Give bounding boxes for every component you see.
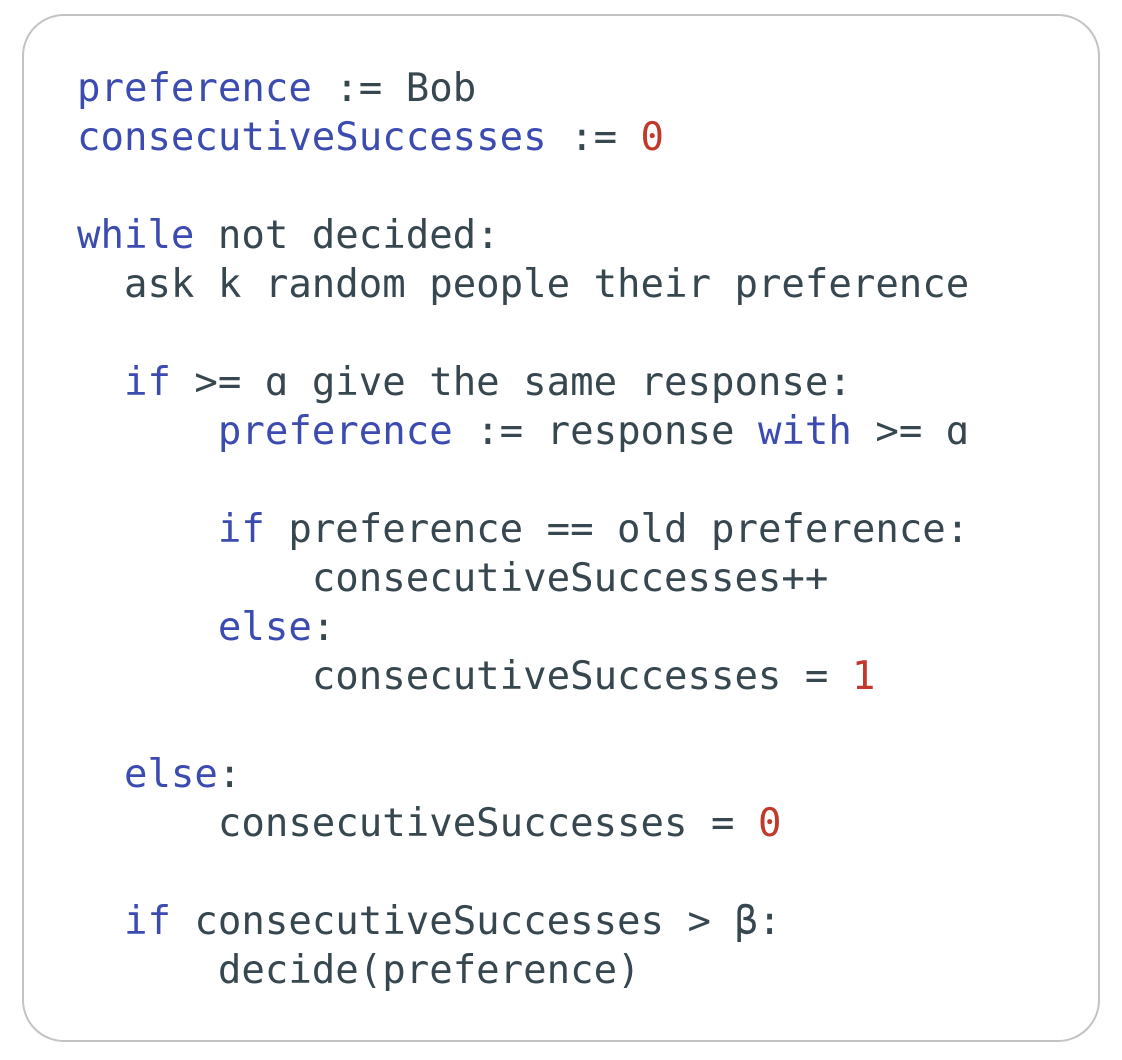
pseudocode-card: preference := BobconsecutiveSuccesses :=… xyxy=(22,14,1100,1042)
code-line: preference := response with >= ɑ xyxy=(77,407,969,456)
code-number: 1 xyxy=(852,654,875,699)
code-line: if consecutiveSuccesses > β: xyxy=(77,897,969,946)
code-keyword: else xyxy=(124,752,218,797)
code-line: consecutiveSuccesses = 1 xyxy=(77,652,969,701)
code-text: Bob xyxy=(406,66,476,111)
code-text: : xyxy=(218,752,241,797)
code-indent xyxy=(77,262,124,307)
code-indent xyxy=(77,948,218,993)
code-text: decide(preference) xyxy=(218,948,641,993)
code-keyword: else xyxy=(218,605,312,650)
code-line xyxy=(77,456,969,505)
code-line xyxy=(77,309,969,358)
code-indent xyxy=(77,801,218,846)
code-line xyxy=(77,162,969,211)
code-number: 0 xyxy=(641,115,664,160)
code-indent xyxy=(77,556,312,601)
code-keyword: while xyxy=(77,213,194,258)
code-variable: preference xyxy=(77,66,312,111)
code-text: := response xyxy=(453,409,758,454)
code-indent xyxy=(77,899,124,944)
code-line: decide(preference) xyxy=(77,946,969,995)
code-line: else: xyxy=(77,603,969,652)
pseudocode-block: preference := BobconsecutiveSuccesses :=… xyxy=(77,64,969,995)
code-keyword: if xyxy=(218,507,265,552)
code-keyword: if xyxy=(124,899,171,944)
code-line: if >= ɑ give the same response: xyxy=(77,358,969,407)
code-text: >= ɑ xyxy=(852,409,969,454)
code-variable: preference xyxy=(218,409,453,454)
code-line: consecutiveSuccesses++ xyxy=(77,554,969,603)
code-text: : xyxy=(312,605,335,650)
code-text: consecutiveSuccesses++ xyxy=(312,556,829,601)
code-indent xyxy=(77,360,124,405)
code-text: preference == old preference: xyxy=(265,507,969,552)
code-variable: consecutiveSuccesses xyxy=(77,115,547,160)
code-text: >= ɑ give the same response: xyxy=(171,360,852,405)
code-text: consecutiveSuccesses > β: xyxy=(171,899,781,944)
code-line: while not decided: xyxy=(77,211,969,260)
code-text: ask k random people their preference xyxy=(124,262,969,307)
code-line: ask k random people their preference xyxy=(77,260,969,309)
code-line: consecutiveSuccesses = 0 xyxy=(77,799,969,848)
code-indent xyxy=(77,752,124,797)
code-text: not decided: xyxy=(194,213,499,258)
code-line: else: xyxy=(77,750,969,799)
code-text: consecutiveSuccesses = xyxy=(218,801,758,846)
code-indent xyxy=(77,654,312,699)
code-text: consecutiveSuccesses = xyxy=(312,654,852,699)
code-line xyxy=(77,701,969,750)
code-text: := xyxy=(312,66,406,111)
code-text: := xyxy=(547,115,641,160)
code-keyword: with xyxy=(758,409,852,454)
code-keyword: if xyxy=(124,360,171,405)
code-indent xyxy=(77,409,218,454)
code-line xyxy=(77,848,969,897)
code-number: 0 xyxy=(758,801,781,846)
code-line: consecutiveSuccesses := 0 xyxy=(77,113,969,162)
code-line: preference := Bob xyxy=(77,64,969,113)
code-indent xyxy=(77,507,218,552)
code-line: if preference == old preference: xyxy=(77,505,969,554)
code-indent xyxy=(77,605,218,650)
